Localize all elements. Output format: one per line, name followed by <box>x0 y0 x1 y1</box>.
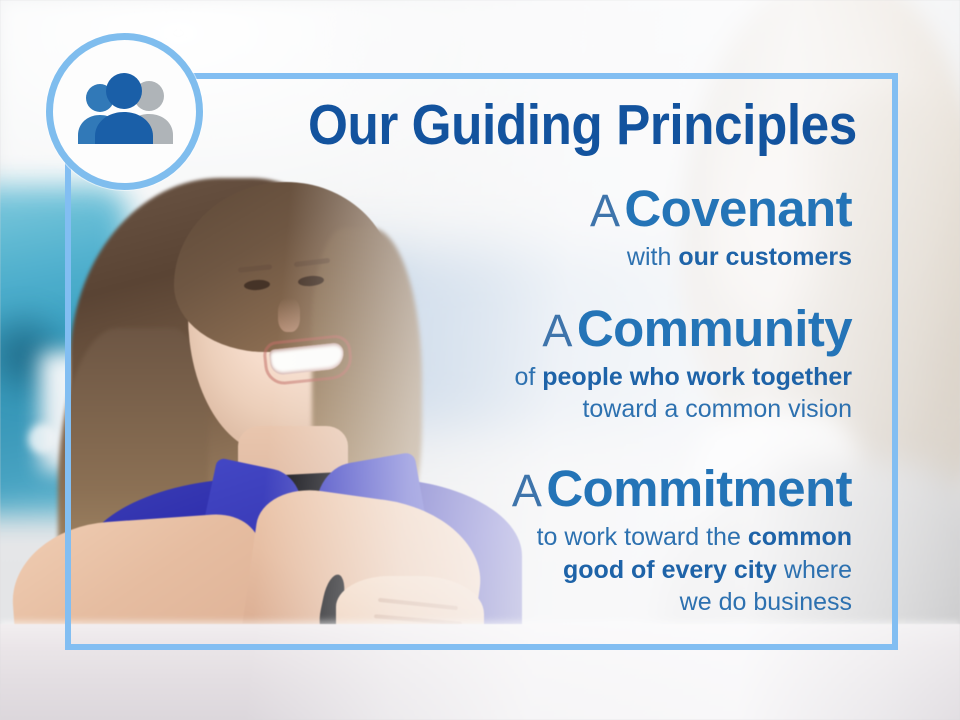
people-group-badge <box>46 33 203 190</box>
banner-root: FLOW FLOW <box>0 0 960 720</box>
people-group-icon <box>73 72 177 152</box>
